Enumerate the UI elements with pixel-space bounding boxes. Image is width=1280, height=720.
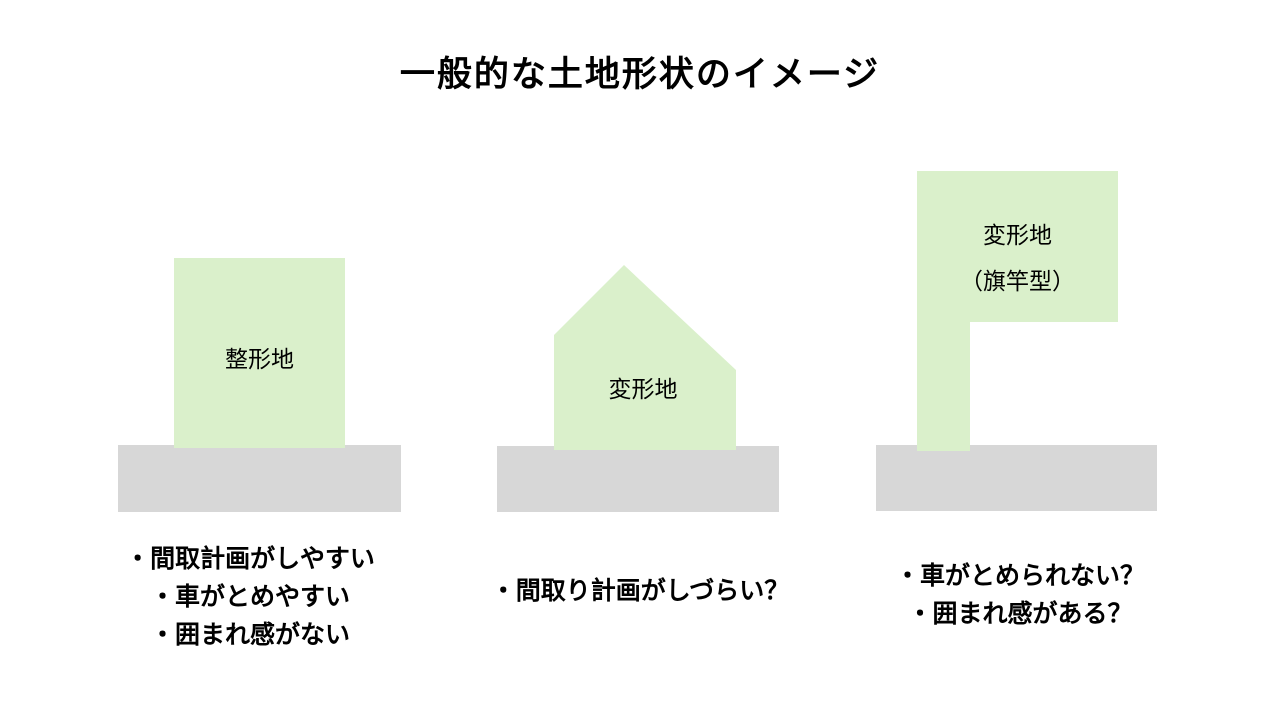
land-shape-flagpole bbox=[917, 171, 1118, 451]
caption-line: ・囲まれ感がある？ bbox=[840, 595, 1200, 633]
caption-irregular-flagpole: ・車がとめられない？ ・囲まれ感がある？ bbox=[840, 557, 1200, 633]
plot-group-irregular-flagpole: 変形地 （旗竿型） ・車がとめられない？ ・囲まれ感がある？ bbox=[0, 0, 1280, 720]
caption-line: ・車がとめられない？ bbox=[840, 557, 1200, 595]
land-label-line: 変形地 bbox=[917, 219, 1118, 251]
road-strip-irregular-flagpole bbox=[876, 445, 1157, 511]
land-label-irregular-flagpole: 変形地 （旗竿型） bbox=[917, 219, 1118, 297]
slide-canvas: 一般的な土地形状のイメージ 整形地 ・間取計画がしやすい ・車がとめやすい ・囲… bbox=[0, 0, 1280, 720]
land-label-line: （旗竿型） bbox=[917, 265, 1118, 297]
